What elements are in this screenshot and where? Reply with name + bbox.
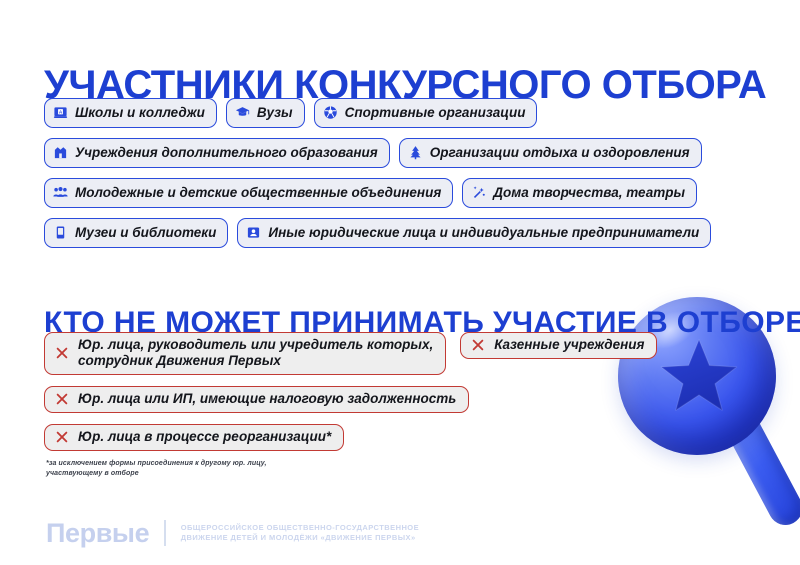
chip-label: Учреждения дополнительного образования xyxy=(75,144,378,162)
chip-creativity-houses-theatres[interactable]: Дома творчества, театры xyxy=(462,178,697,208)
chip-label: Молодежные и детские общественные объеди… xyxy=(75,184,441,202)
chip-universities[interactable]: Вузы xyxy=(226,98,305,128)
chip-label: Вузы xyxy=(257,104,293,122)
exclusion-row: Юр. лица, руководитель или учредитель ко… xyxy=(44,332,744,375)
footnote-line-2: участвующему в отборе xyxy=(46,469,346,479)
id-card-icon xyxy=(246,225,261,240)
chip-row: A Школы и колледжи Вузы xyxy=(44,98,756,128)
chip-other-legal-entities[interactable]: Иные юридические лица и индивидуальные п… xyxy=(237,218,711,248)
exclusion-item-leaders[interactable]: Юр. лица, руководитель или учредитель ко… xyxy=(44,332,446,375)
chip-label: Иные юридические лица и индивидуальные п… xyxy=(268,224,699,242)
x-icon xyxy=(470,338,485,353)
exclusion-list: Юр. лица, руководитель или учредитель ко… xyxy=(44,332,744,462)
exclusion-line-1: Юр. лица, руководитель или учредитель ко… xyxy=(78,337,433,352)
organization-line-1: ОБЩЕРОССИЙСКОЕ ОБЩЕСТВЕННО-ГОСУДАРСТВЕНН… xyxy=(181,523,419,534)
exclusion-item-tax-debt[interactable]: Юр. лица или ИП, имеющие налоговую задол… xyxy=(44,386,469,413)
exclusion-row: Юр. лица или ИП, имеющие налоговую задол… xyxy=(44,386,744,413)
chip-label: Дома творчества, театры xyxy=(493,184,685,202)
chip-supplementary-education[interactable]: Учреждения дополнительного образования xyxy=(44,138,390,168)
chip-label: Организации отдыха и оздоровления xyxy=(430,144,690,162)
chip-row: Музеи и библиотеки Иные юридические лица… xyxy=(44,218,756,248)
footnote: *за исключением формы присоединения к др… xyxy=(46,459,346,479)
footer-divider xyxy=(164,520,166,546)
chip-youth-child-associations[interactable]: Молодежные и детские общественные объеди… xyxy=(44,178,453,208)
x-icon xyxy=(54,346,69,361)
exclusion-line-2: сотрудник Движения Первых xyxy=(78,353,433,369)
chip-museums-libraries[interactable]: Музеи и библиотеки xyxy=(44,218,228,248)
infographic-page: УЧАСТНИКИ КОНКУРСНОГО ОТБОРА A Школы и к… xyxy=(0,0,800,565)
magic-wand-icon xyxy=(471,185,486,200)
footnote-line-1: *за исключением формы присоединения к др… xyxy=(46,459,346,469)
chip-recreation-health-organizations[interactable]: Организации отдыха и оздоровления xyxy=(399,138,702,168)
people-group-icon xyxy=(53,185,68,200)
participant-chip-list: A Школы и колледжи Вузы xyxy=(44,98,756,258)
chip-label: Школы и колледжи xyxy=(75,104,205,122)
exclusion-item-state-institutions[interactable]: Казенные учреждения xyxy=(460,332,657,359)
footer: Первые ОБЩЕРОССИЙСКОЕ ОБЩЕСТВЕННО-ГОСУДА… xyxy=(46,518,419,548)
brand-logo: Первые xyxy=(46,518,149,548)
chip-row: Учреждения дополнительного образования О… xyxy=(44,138,756,168)
exclusion-label: Юр. лица в процессе реорганизации* xyxy=(78,429,331,445)
exclusion-label: Юр. лица, руководитель или учредитель ко… xyxy=(78,337,433,369)
soccer-ball-icon xyxy=(323,105,338,120)
book-closed-icon xyxy=(53,225,68,240)
chip-schools-colleges[interactable]: A Школы и колледжи xyxy=(44,98,217,128)
exclusion-row: Юр. лица в процессе реорганизации* xyxy=(44,424,744,451)
chip-sports-organizations[interactable]: Спортивные организации xyxy=(314,98,538,128)
book-icon: A xyxy=(53,105,68,120)
chip-label: Музеи и библиотеки xyxy=(75,224,216,242)
organization-name: ОБЩЕРОССИЙСКОЕ ОБЩЕСТВЕННО-ГОСУДАРСТВЕНН… xyxy=(181,523,419,544)
exclusion-item-reorganization[interactable]: Юр. лица в процессе реорганизации* xyxy=(44,424,344,451)
exclusion-label: Казенные учреждения xyxy=(494,337,644,353)
x-icon xyxy=(54,392,69,407)
graduation-cap-icon xyxy=(235,105,250,120)
exclusion-label: Юр. лица или ИП, имеющие налоговую задол… xyxy=(78,391,456,407)
building-icon xyxy=(53,145,68,160)
chip-row: Молодежные и детские общественные объеди… xyxy=(44,178,756,208)
organization-line-2: ДВИЖЕНИЕ ДЕТЕЙ И МОЛОДЁЖИ «ДВИЖЕНИЕ ПЕРВ… xyxy=(181,533,419,544)
chip-label: Спортивные организации xyxy=(345,104,526,122)
x-icon xyxy=(54,430,69,445)
pine-tree-icon xyxy=(408,145,423,160)
